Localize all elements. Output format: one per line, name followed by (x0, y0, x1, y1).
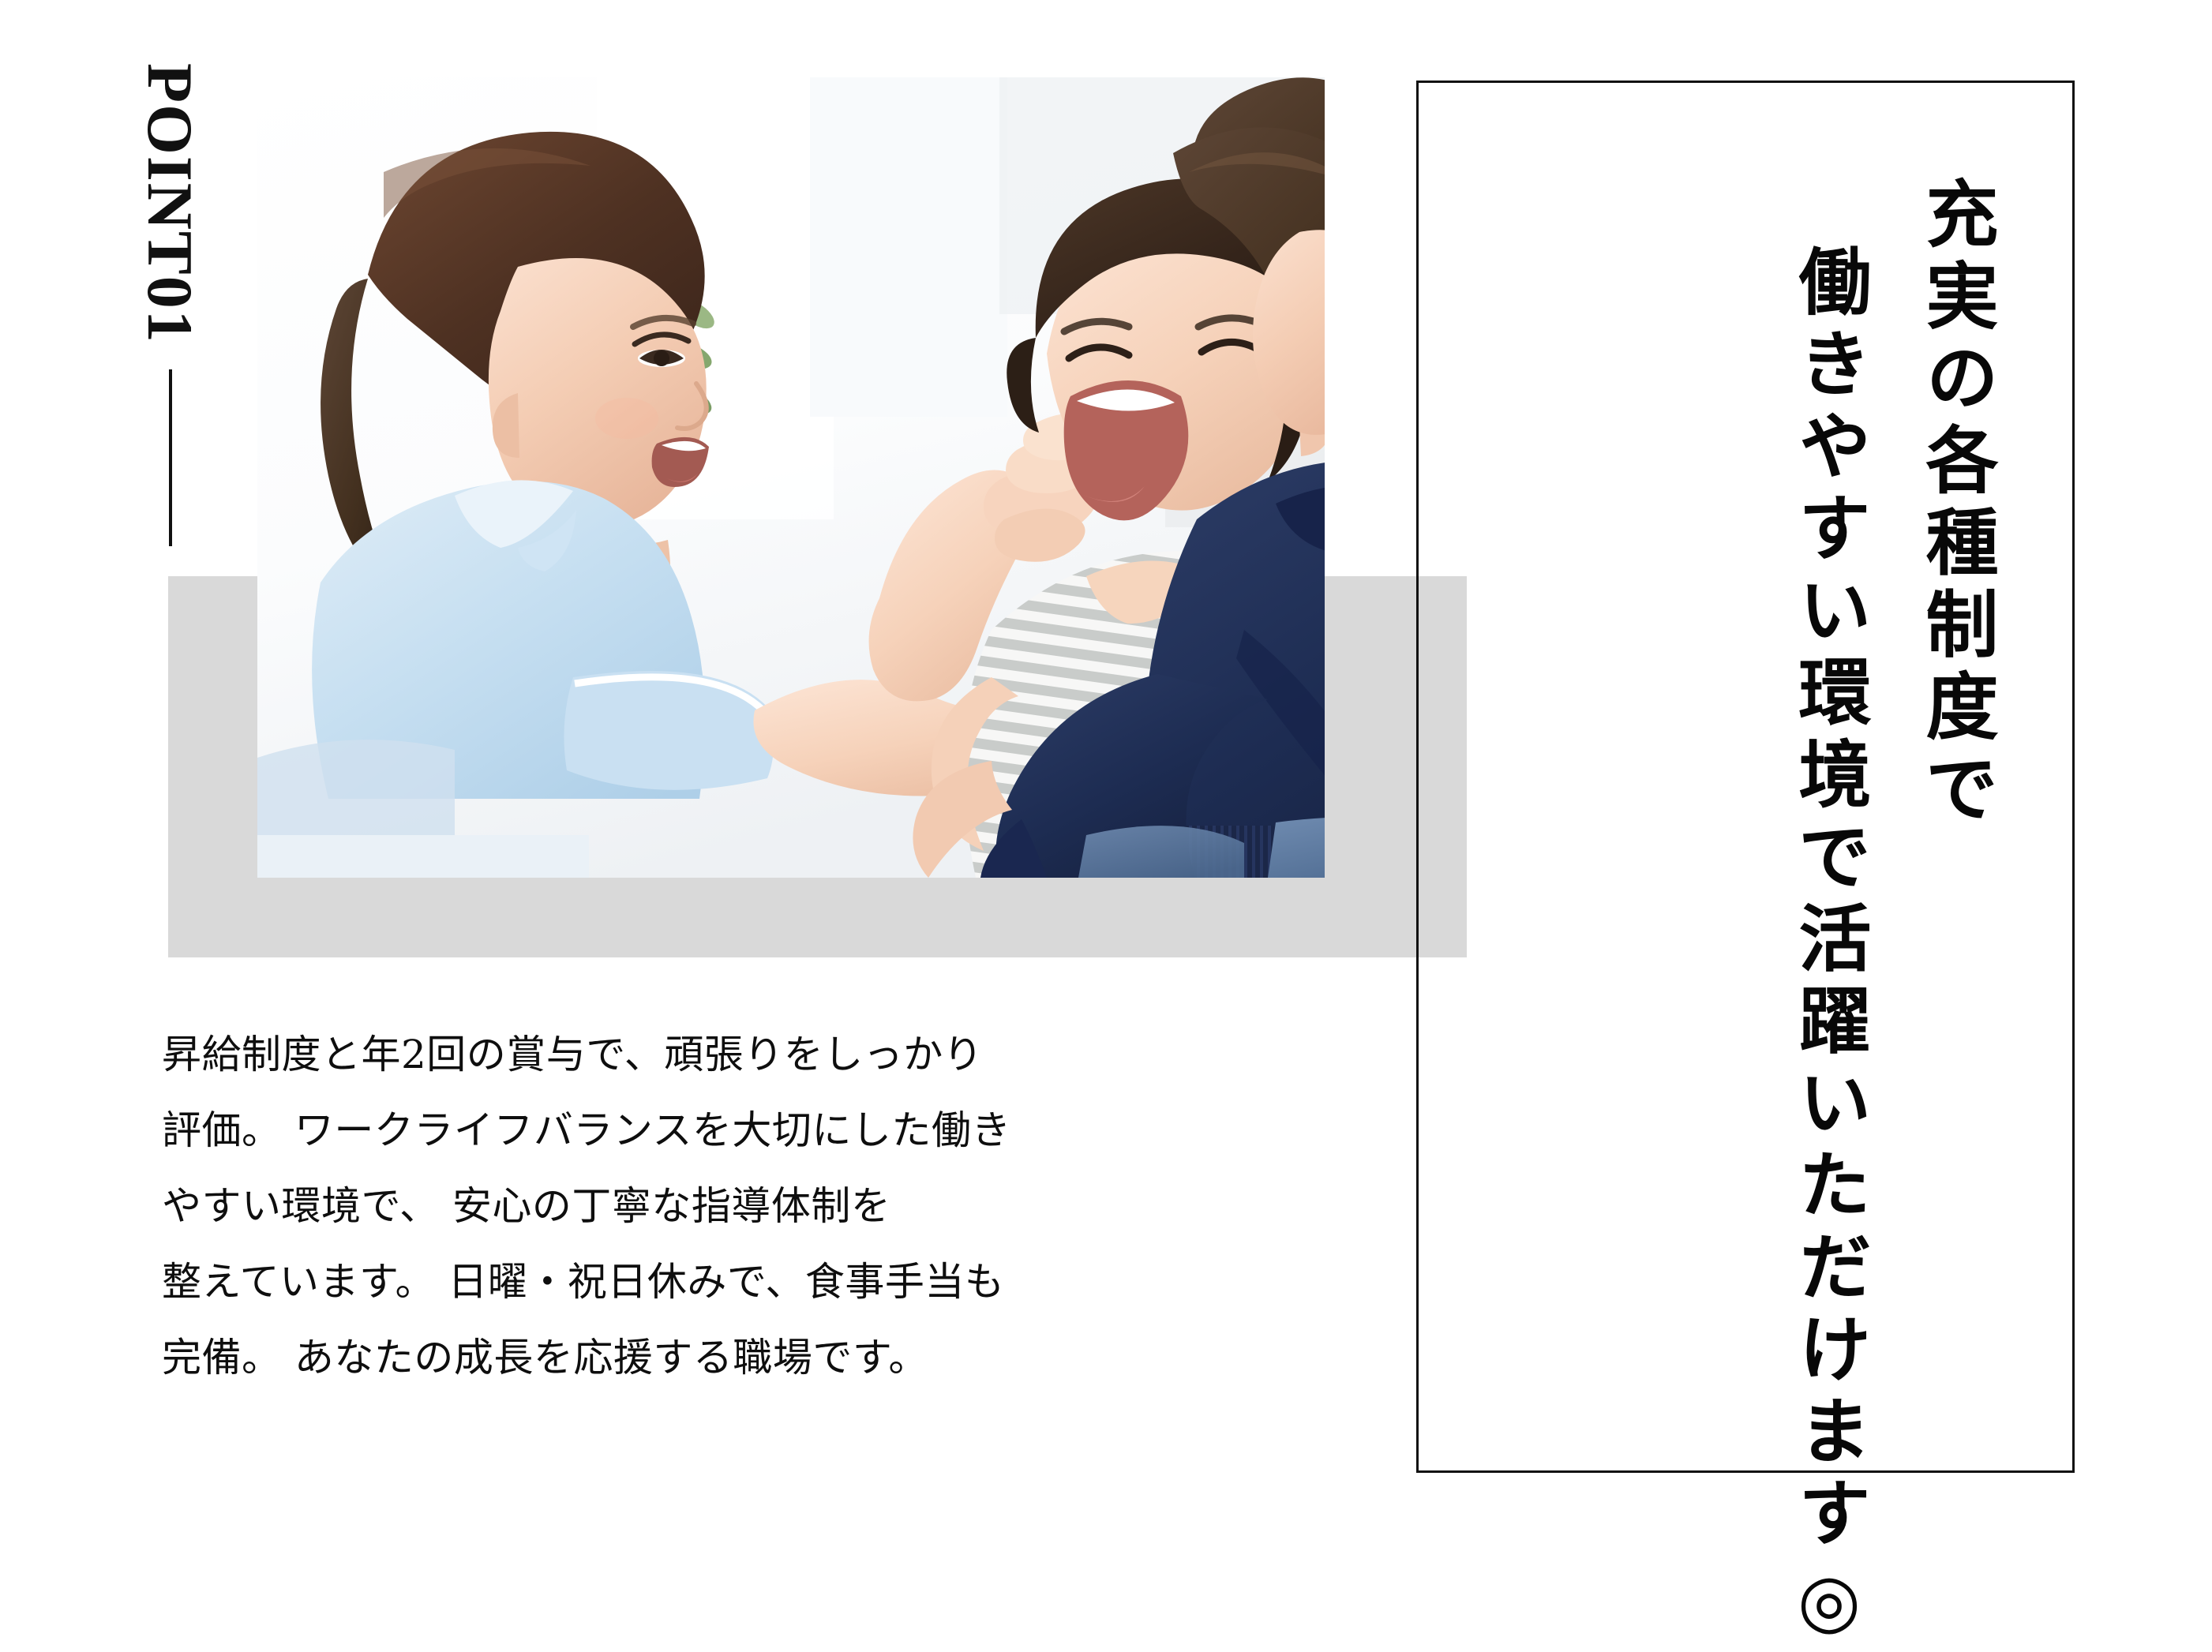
body-paragraph: 昇給制度と年2回の賞与で、頑張りをしっかり 評価。 ワークライフバランスを大切に… (162, 1017, 1330, 1395)
headline-column-1: 充実の各種制度で (1915, 176, 1996, 833)
poster-page: POINT01 (0, 0, 2212, 1563)
headline-column-2: 働きやすい環境で活躍いただけます◎ (1788, 244, 1869, 1652)
hero-photo (257, 77, 1325, 878)
point-rule-divider (169, 369, 172, 546)
point-label-group: POINT01 (118, 63, 229, 379)
headline-box: 充実の各種制度で 働きやすい環境で活躍いただけます◎ (1416, 81, 2075, 1473)
headline-columns: 充実の各種制度で 働きやすい環境で活躍いただけます◎ (1419, 83, 2072, 1470)
hero-photo-artwork (257, 77, 1325, 878)
body-line: 評価。 ワークライフバランスを大切にした働き (162, 1092, 1330, 1168)
body-line: 完備。 あなたの成長を応援する職場です。 (162, 1320, 1330, 1395)
body-line: 昇給制度と年2回の賞与で、頑張りをしっかり (162, 1017, 1330, 1092)
body-line: 整えています。 日曜・祝日休みで、食事手当も (162, 1244, 1330, 1320)
point-label: POINT01 (118, 63, 221, 379)
body-line: やすい環境で、 安心の丁寧な指導体制を (162, 1168, 1330, 1244)
